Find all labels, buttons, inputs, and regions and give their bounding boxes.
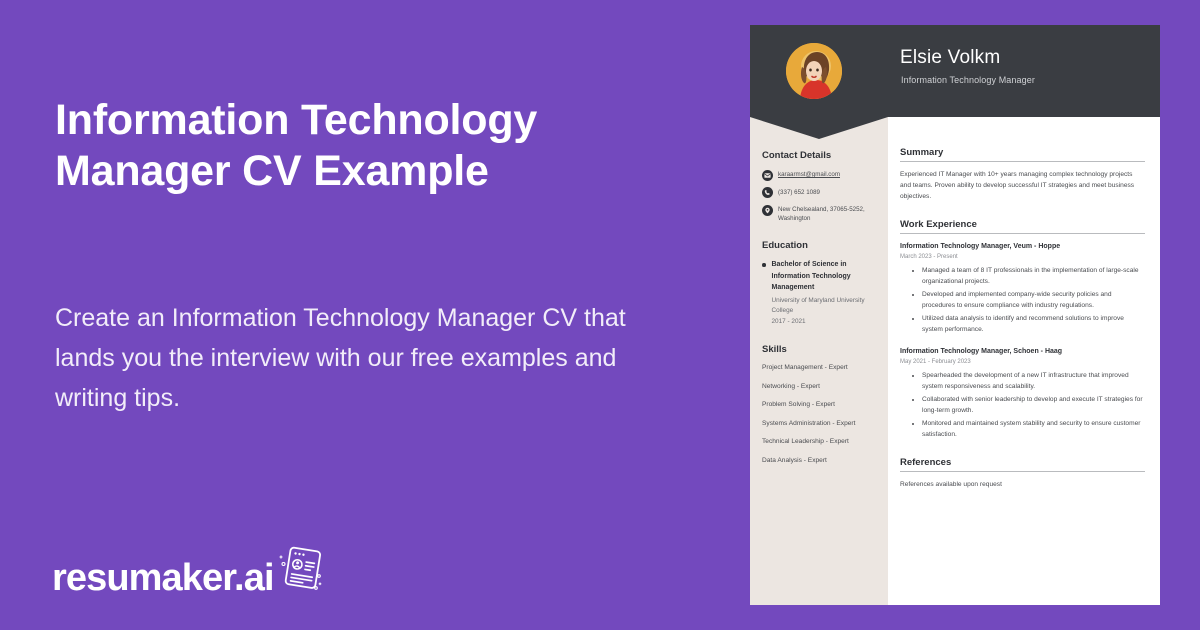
references-heading: References: [900, 457, 1145, 468]
education-school: University of Maryland University Colleg…: [772, 296, 881, 317]
page-title: Information Technology Manager CV Exampl…: [55, 95, 695, 197]
job-bullet-list: Managed a team of 8 IT professionals in …: [900, 265, 1145, 335]
contact-email-text: karaarmst@gmail.com: [778, 169, 840, 179]
section-divider: [900, 471, 1145, 472]
job-bullet: Monitored and maintained system stabilit…: [922, 418, 1145, 440]
references-section: References References available upon req…: [900, 457, 1145, 490]
promo-panel: Information Technology Manager CV Exampl…: [0, 0, 750, 630]
job-bullet-list: Spearheaded the development of a new IT …: [900, 370, 1145, 440]
contact-email-row[interactable]: karaarmst@gmail.com: [762, 169, 880, 181]
job-entry: Information Technology Manager, Veum - H…: [900, 241, 1145, 335]
education-heading: Education: [762, 240, 880, 251]
education-dates: 2017 - 2021: [772, 317, 881, 328]
job-dates: May 2021 - February 2023: [900, 357, 1145, 367]
contact-address-row[interactable]: New Chelsealand, 37065-5252, Washington: [762, 204, 880, 223]
resume-document-icon: [275, 543, 325, 596]
skill-item: Project Management - Expert: [762, 363, 880, 373]
skills-section: Skills Project Management - Expert Netwo…: [762, 344, 880, 466]
job-bullet: Collaborated with senior leadership to d…: [922, 394, 1145, 416]
job-title: Information Technology Manager, Schoen -…: [900, 346, 1145, 357]
section-divider: [900, 233, 1145, 234]
resumaker-logo[interactable]: resumaker.ai: [52, 543, 325, 597]
skill-item: Networking - Expert: [762, 382, 880, 392]
cv-preview-card[interactable]: Elsie Volkm Information Technology Manag…: [750, 25, 1160, 605]
contact-details-section: Contact Details karaarmst@gmail.com (337…: [762, 150, 880, 223]
phone-icon: [762, 187, 773, 198]
job-entry: Information Technology Manager, Schoen -…: [900, 346, 1145, 440]
job-dates: March 2023 - Present: [900, 252, 1145, 262]
cv-candidate-role: Information Technology Manager: [901, 75, 1035, 85]
contact-details-heading: Contact Details: [762, 150, 880, 161]
education-section: Education Bachelor of Science in Informa…: [762, 240, 880, 327]
skills-heading: Skills: [762, 344, 880, 355]
education-item: Bachelor of Science in Information Techn…: [762, 259, 880, 327]
cv-sidebar-content: Contact Details karaarmst@gmail.com (337…: [762, 150, 880, 483]
references-text: References available upon request: [900, 479, 1145, 490]
section-divider: [900, 161, 1145, 162]
summary-heading: Summary: [900, 147, 1145, 158]
bullet-dot-icon: [762, 263, 766, 267]
promo-subtext: Create an Information Technology Manager…: [55, 298, 675, 418]
skill-item: Problem Solving - Expert: [762, 400, 880, 410]
job-bullet: Developed and implemented company-wide s…: [922, 289, 1145, 311]
job-title: Information Technology Manager, Veum - H…: [900, 241, 1145, 252]
summary-section: Summary Experienced IT Manager with 10+ …: [900, 147, 1145, 202]
logo-wordmark: resumaker.ai: [52, 559, 274, 597]
job-bullet: Utilized data analysis to identify and r…: [922, 313, 1145, 335]
work-experience-section: Work Experience Information Technology M…: [900, 219, 1145, 440]
skill-item: Data Analysis - Expert: [762, 456, 880, 466]
avatar: [786, 43, 842, 99]
envelope-icon: [762, 170, 773, 181]
contact-phone-text: (337) 652 1089: [778, 187, 820, 197]
work-experience-heading: Work Experience: [900, 219, 1145, 230]
skill-item: Technical Leadership - Expert: [762, 437, 880, 447]
contact-phone-row[interactable]: (337) 652 1089: [762, 187, 880, 199]
summary-text: Experienced IT Manager with 10+ years ma…: [900, 169, 1145, 202]
location-pin-icon: [762, 205, 773, 216]
job-bullet: Spearheaded the development of a new IT …: [922, 370, 1145, 392]
contact-address-text: New Chelsealand, 37065-5252, Washington: [778, 204, 880, 223]
job-bullet: Managed a team of 8 IT professionals in …: [922, 265, 1145, 287]
cv-main-content: Summary Experienced IT Manager with 10+ …: [900, 147, 1145, 507]
skill-item: Systems Administration - Expert: [762, 419, 880, 429]
cv-candidate-name: Elsie Volkm: [900, 47, 1000, 69]
education-degree: Bachelor of Science in Information Techn…: [772, 259, 881, 294]
